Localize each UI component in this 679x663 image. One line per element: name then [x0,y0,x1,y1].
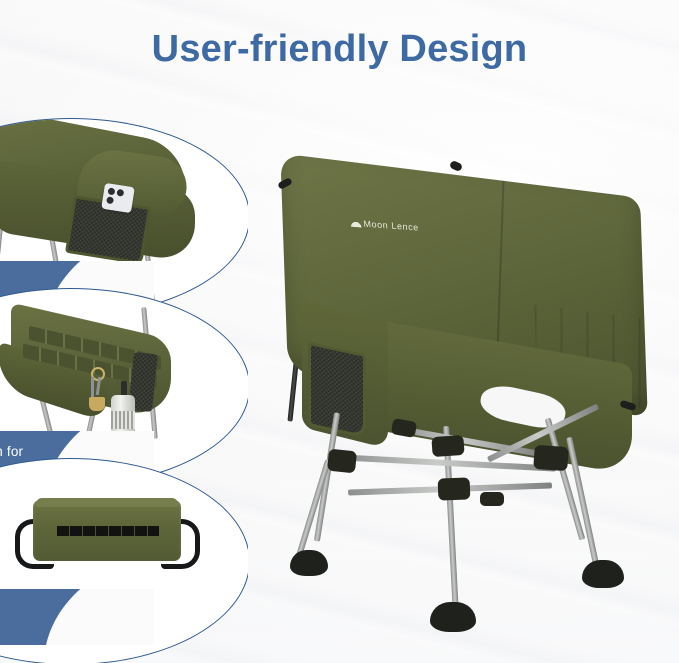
page-title: User-friendly Design [0,28,679,71]
frame-joint-hub [438,477,471,500]
fabric-corner-tip [449,160,463,172]
feature-panel-carrying-bag: Compad Carrying Bag [0,458,248,663]
chair-foot-center [430,602,476,632]
key-fob [89,397,105,411]
product-feature-image: User-friendly Design [0,0,679,663]
chair-foot-left [290,550,328,576]
brand-logo-text: Moon Lence [363,219,419,233]
chair-foot-right [582,560,624,588]
frame-joint-hub [480,492,504,506]
product-photo-main-chair: Moon Lence [262,140,679,663]
frame-joint-hub [391,418,417,438]
bag-molle-strip [57,526,159,536]
feature-caption-banner-3: Compad Carrying Bag [0,589,154,645]
frame-joint-hub [327,449,357,474]
chair-leg-front-left [295,459,331,560]
frame-joint-hub [431,435,464,457]
feature-panel-organizer-pocket: Within-Reach Organizer Pocket [0,118,248,314]
banner-curve-decoration [44,589,154,645]
smartphone [101,183,135,213]
brand-logo: Moon Lence [350,216,419,233]
feature-panel-molle-system: MOLLE System for More Attachments [0,288,248,484]
carrying-bag-top-seam [36,498,178,507]
frame-joint-hub [533,445,569,471]
moon-tent-icon [350,216,362,228]
key [91,377,94,399]
